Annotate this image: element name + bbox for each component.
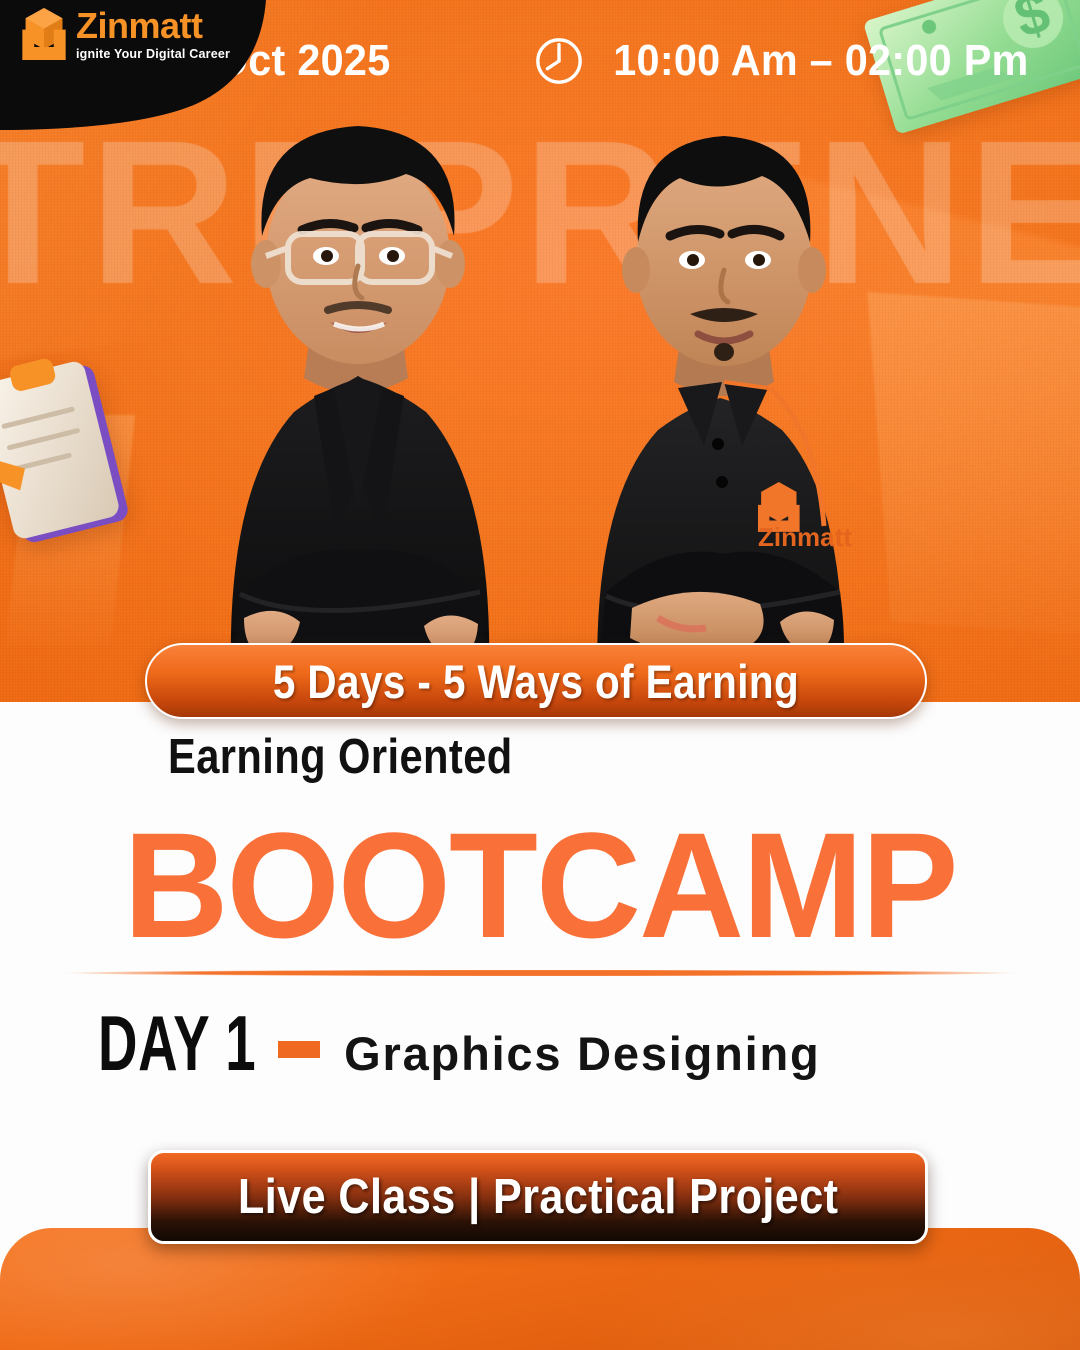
day-number: DAY 1	[98, 1004, 256, 1082]
zinmatt-cube-logo-icon	[22, 8, 66, 60]
days-badge[interactable]: 5 Days - 5 Ways of Earning	[145, 643, 927, 719]
event-time-text: 10:00 Am – 02:00 Pm	[613, 36, 1028, 86]
day-topic-row: DAY 1 Graphics Designing	[98, 1004, 821, 1082]
poster-canvas: ENTREPRENEUR $	[0, 0, 1080, 1350]
clock-icon	[534, 35, 584, 87]
day-dash-icon	[278, 1041, 320, 1058]
footer-bar	[0, 1228, 1080, 1350]
live-class-label: Live Class | Practical Project	[238, 1169, 839, 1225]
page-title: BOOTCAMP	[16, 810, 1064, 960]
live-class-banner[interactable]: Live Class | Practical Project	[148, 1150, 928, 1244]
days-badge-label: 5 Days - 5 Ways of Earning	[273, 654, 799, 709]
kicker-text: Earning Oriented	[168, 729, 513, 785]
brand-name: Zinmatt	[76, 8, 230, 44]
footer-gloss	[0, 1228, 1080, 1350]
svg-text:Zinmatt: Zinmatt	[758, 522, 852, 552]
section-divider	[62, 970, 1018, 976]
day-topic: Graphics Designing	[344, 1030, 820, 1077]
instructors-photo: Zinmatt	[162, 52, 952, 702]
event-time: 10:00 Am – 02:00 Pm	[534, 35, 1042, 87]
brand-tagline: ignite Your Digital Career	[76, 48, 230, 61]
brand-logo[interactable]: Zinmatt ignite Your Digital Career	[22, 8, 230, 61]
brand-text: Zinmatt ignite Your Digital Career	[76, 8, 230, 61]
